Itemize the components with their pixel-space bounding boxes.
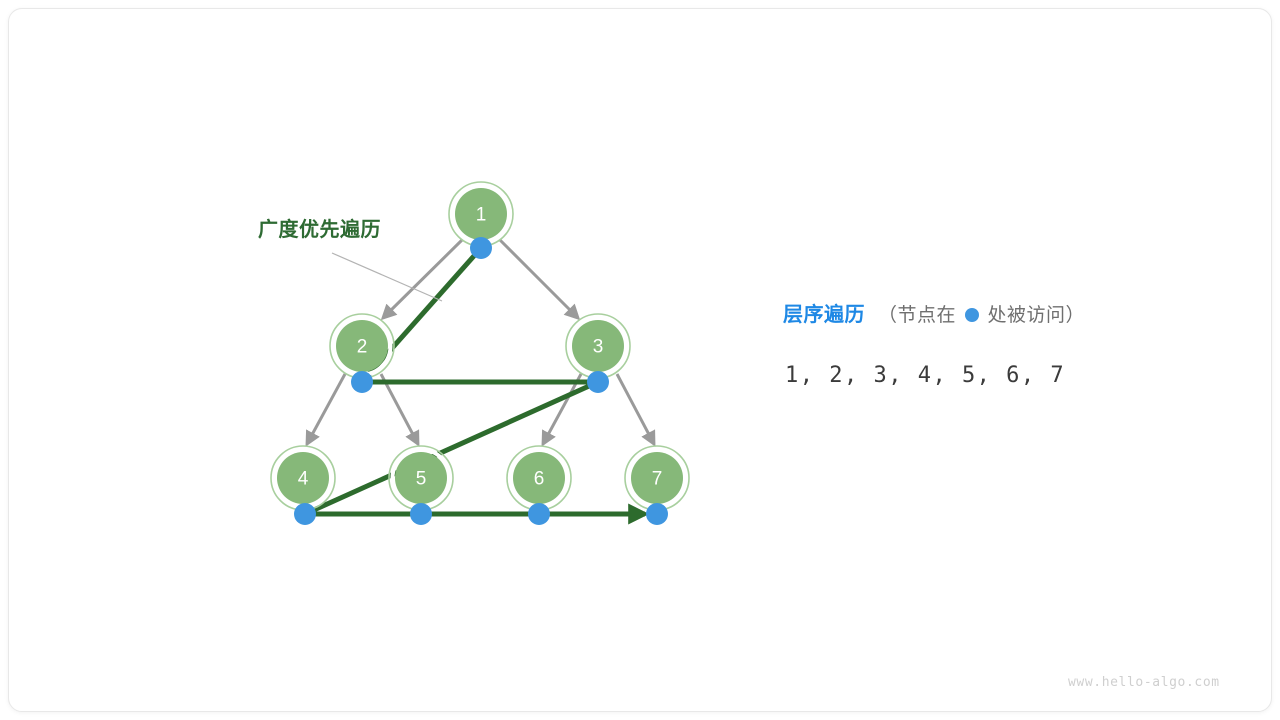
- traversal-sequence: 1, 2, 3, 4, 5, 6, 7: [785, 365, 1065, 387]
- visit-dot-node-4[interactable]: [294, 503, 316, 525]
- note-prefix-text: （节点在: [878, 305, 962, 326]
- visit-dot-node-3[interactable]: [587, 371, 609, 393]
- visit-dot-icon: [965, 308, 979, 322]
- visit-dot-node-1[interactable]: [470, 237, 492, 259]
- edge-2-4: [307, 374, 345, 444]
- level-order-title: 层序遍历: [783, 305, 865, 325]
- node-4[interactable]: 4: [271, 446, 335, 510]
- level-order-note: （节点在 处被访问）: [878, 306, 1085, 325]
- visit-dot-node-5[interactable]: [410, 503, 432, 525]
- note-suffix-text: 处被访问）: [982, 305, 1085, 326]
- visit-dot-node-2[interactable]: [351, 371, 373, 393]
- node-3[interactable]: 3: [566, 314, 630, 378]
- node-6[interactable]: 6: [507, 446, 571, 510]
- visit-dot-node-6[interactable]: [528, 503, 550, 525]
- edge-3-7: [617, 374, 654, 444]
- node-7[interactable]: 7: [625, 446, 689, 510]
- node-1-label: 1: [476, 205, 487, 226]
- node-7-label: 7: [652, 469, 663, 490]
- node-6-label: 6: [534, 469, 545, 490]
- edge-1-3: [500, 240, 578, 318]
- watermark: www.hello-algo.com: [1068, 676, 1220, 689]
- node-2[interactable]: 2: [330, 314, 394, 378]
- node-2-label: 2: [357, 337, 368, 358]
- binary-tree-diagram: 1 2 3 4: [0, 0, 1280, 720]
- node-1[interactable]: 1: [449, 182, 513, 246]
- node-5-label: 5: [416, 469, 427, 490]
- bfs-annotation-label: 广度优先遍历: [258, 220, 381, 240]
- figure-canvas: 1 2 3 4: [0, 0, 1280, 720]
- node-5[interactable]: 5: [389, 446, 453, 510]
- node-3-label: 3: [593, 337, 604, 358]
- node-4-label: 4: [298, 469, 309, 490]
- visit-dot-node-7[interactable]: [646, 503, 668, 525]
